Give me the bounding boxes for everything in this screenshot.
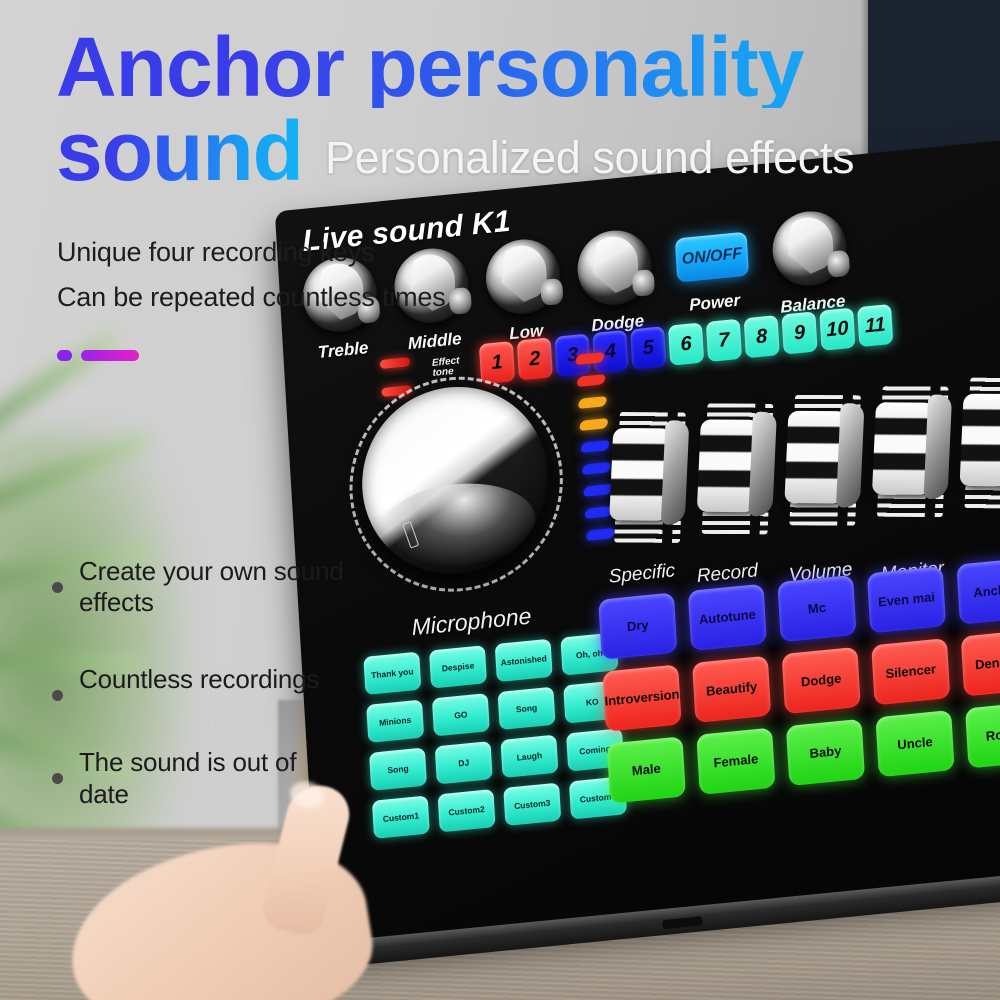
effect-pad-10[interactable]: 10 <box>819 308 855 351</box>
mic-pad[interactable]: GO <box>432 693 490 736</box>
led-segment <box>580 440 610 453</box>
accent-divider <box>57 350 457 361</box>
mic-pad[interactable]: Laugh <box>500 735 558 778</box>
fader-side <box>661 420 690 525</box>
fader-row <box>605 374 1000 546</box>
effect-pad-9[interactable]: 9 <box>781 311 817 354</box>
led-segment <box>579 418 609 431</box>
jog-wheel[interactable] <box>343 367 569 602</box>
fn-pad-silencer[interactable]: Silencer <box>871 638 950 705</box>
effect-pad-11[interactable]: 11 <box>857 304 893 347</box>
led-segment <box>576 374 606 387</box>
function-pad-grid: Dry Autotune Mc Even mai Anchor Introver… <box>598 557 1000 815</box>
fader-slider[interactable] <box>781 395 865 526</box>
fn-pad-denoise[interactable]: Denoise <box>961 629 1000 696</box>
led-segment <box>581 462 611 475</box>
fader-side <box>924 395 953 500</box>
header-record: Record <box>696 560 758 588</box>
mic-pad-custom2[interactable]: Custom2 <box>438 789 496 832</box>
effect-pad-5[interactable]: 5 <box>630 326 666 369</box>
fn-pad-female[interactable]: Female <box>696 728 775 795</box>
mic-pad[interactable]: Song <box>498 687 556 730</box>
list-item: Countless recordings <box>52 664 352 701</box>
accent-bar <box>81 350 139 361</box>
fn-pad-robot[interactable]: Robot <box>965 701 1000 768</box>
bullet-dot-icon <box>52 582 63 593</box>
mic-pad[interactable]: DJ <box>435 741 493 784</box>
fn-pad-autotune[interactable]: Autotune <box>688 584 767 651</box>
fn-pad-even-mai[interactable]: Even mai <box>867 566 946 633</box>
power-onoff-button[interactable]: ON/OFF <box>675 232 749 283</box>
fn-pad-anchor[interactable]: Anchor <box>956 557 1000 624</box>
fn-pad-mc[interactable]: Mc <box>777 575 856 642</box>
fader-side <box>836 403 865 508</box>
mic-pad[interactable]: Despise <box>429 645 487 688</box>
fn-pad-male[interactable]: Male <box>607 736 686 803</box>
power-section[interactable]: ON/OFF Power <box>658 216 767 318</box>
header-specific: Specific <box>608 560 676 588</box>
fn-pad-dry[interactable]: Dry <box>598 592 677 659</box>
hand-pointing <box>40 782 420 1000</box>
list-item: Create your own sound effects <box>52 556 352 618</box>
copy-line-2: Can be repeated countless times <box>57 281 457 314</box>
fader-slider[interactable] <box>694 403 778 534</box>
mic-pad-custom3[interactable]: Custom3 <box>503 783 561 826</box>
effect-pad-6[interactable]: 6 <box>668 322 704 365</box>
led-segment <box>577 396 607 409</box>
bullet-dot-icon <box>52 690 63 701</box>
knob-balance[interactable]: Balance <box>762 207 860 319</box>
knob-icon[interactable] <box>575 227 653 308</box>
effect-pad-7[interactable]: 7 <box>706 319 742 362</box>
knob-icon[interactable] <box>771 208 849 289</box>
fn-pad-beautify[interactable]: Beautify <box>692 656 771 723</box>
fn-pad-introversion[interactable]: Introversion <box>602 664 681 731</box>
fader-slider[interactable] <box>957 378 1000 509</box>
mic-pad[interactable]: Thank you <box>363 652 421 695</box>
fn-pad-dodge[interactable]: Dodge <box>782 647 861 714</box>
mic-pad[interactable]: Astonished <box>495 639 553 682</box>
accent-dot <box>57 350 72 361</box>
fn-pad-baby[interactable]: Baby <box>786 719 865 786</box>
microphone-section-label: Microphone <box>411 603 532 642</box>
fader-side <box>748 412 777 517</box>
copy-line-1: Unique four recording keys <box>57 236 457 269</box>
left-copy-block: Unique four recording keys Can be repeat… <box>57 236 457 361</box>
mic-pad[interactable]: Minions <box>366 700 424 743</box>
fn-pad-uncle[interactable]: Uncle <box>875 710 954 777</box>
fader-slider[interactable] <box>869 386 953 517</box>
effect-pad-8[interactable]: 8 <box>744 315 780 358</box>
led-segment <box>575 352 605 365</box>
fader-knob[interactable] <box>960 394 1000 487</box>
bullet-label: Countless recordings <box>79 664 319 701</box>
fader-slider[interactable] <box>606 412 690 543</box>
knob-low[interactable]: Low <box>475 235 573 347</box>
bullet-label: Create your own sound effects <box>79 556 352 618</box>
knob-dodge[interactable]: Dodge <box>567 226 665 338</box>
knob-icon[interactable] <box>484 236 562 317</box>
power-label: Power <box>662 288 767 318</box>
